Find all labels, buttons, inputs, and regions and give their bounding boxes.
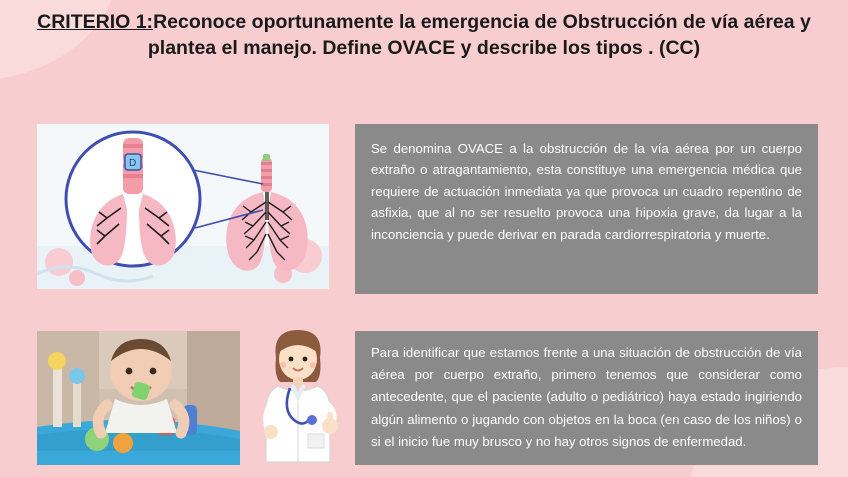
svg-text:D: D xyxy=(129,158,136,169)
female-doctor-thumbs-up-illustration xyxy=(252,322,344,467)
identification-card-text: Para identificar que estamos frente a un… xyxy=(371,345,802,449)
lungs-diagram-image: D xyxy=(37,124,329,289)
slide: CRITERIO 1:Reconoce oportunamente la eme… xyxy=(0,0,848,477)
criterion-label: CRITERIO 1: xyxy=(37,11,153,33)
definition-card: Se denomina OVACE a la obstrucción de la… xyxy=(355,124,818,294)
page-title: CRITERIO 1:Reconoce oportunamente la eme… xyxy=(24,10,824,61)
definition-card-text: Se denomina OVACE a la obstrucción de la… xyxy=(371,141,802,242)
baby-photo-image xyxy=(37,331,240,465)
title-text: Reconoce oportunamente la emergencia de … xyxy=(148,11,811,59)
doctor-illustration-image xyxy=(252,322,344,467)
identification-card: Para identificar que estamos frente a un… xyxy=(355,331,818,465)
lungs-airway-foreign-body-illustration: D xyxy=(37,124,329,289)
baby-with-toy-in-mouth-photo xyxy=(37,331,240,465)
